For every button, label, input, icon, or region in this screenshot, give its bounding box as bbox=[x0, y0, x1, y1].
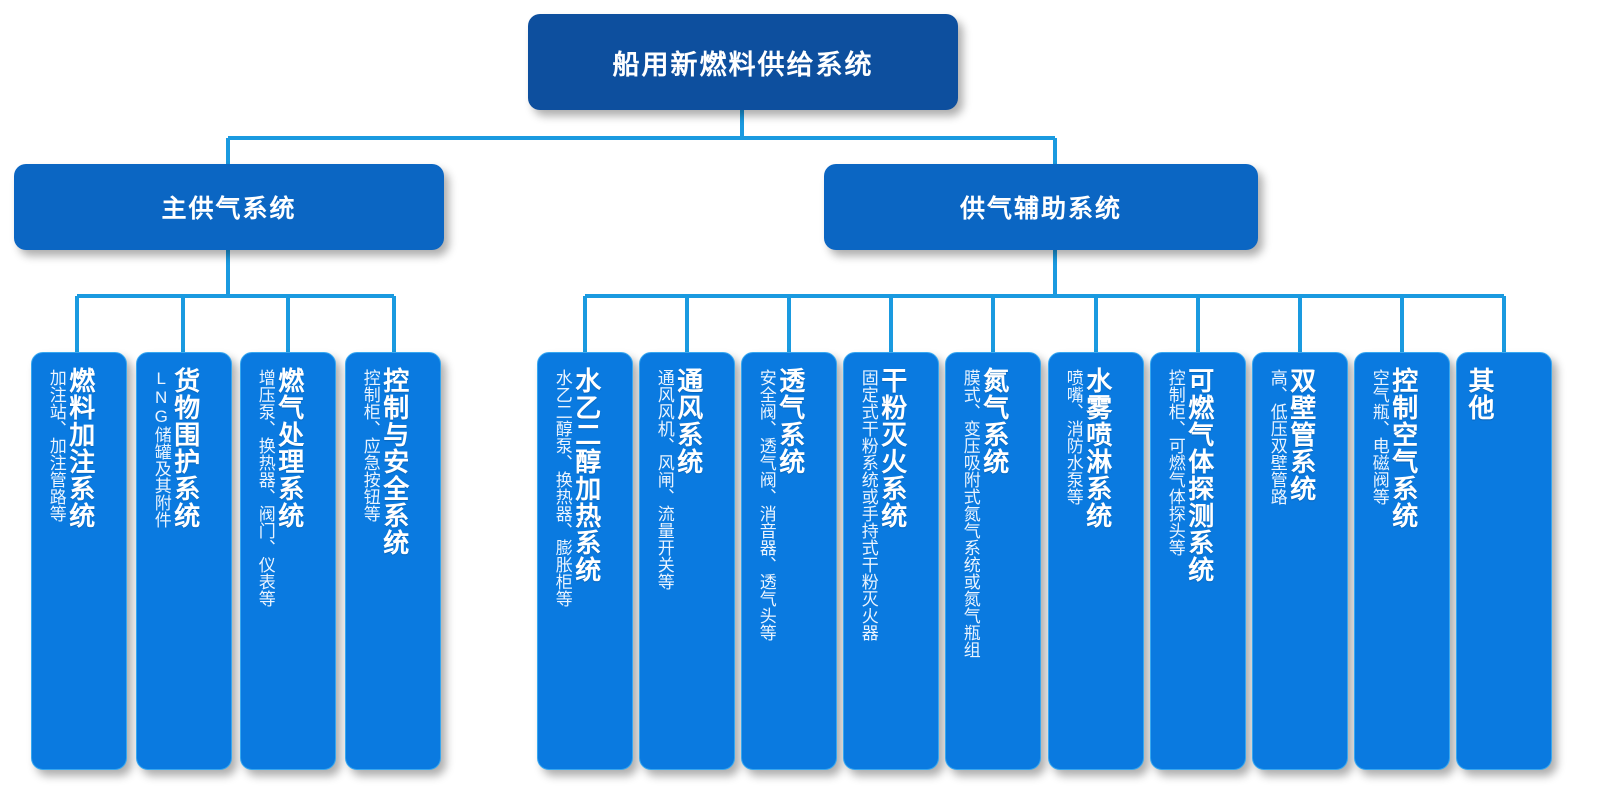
leaf-title: 干粉灭火系统 bbox=[879, 367, 906, 529]
leaf-text-column: 其他 bbox=[1457, 353, 1551, 769]
leaf-subtitle: 加注站、加注管路等 bbox=[46, 369, 65, 522]
leaf-subtitle: 增压泵、换热器、阀门、仪表等 bbox=[255, 369, 274, 607]
leaf-subtitle: 膜式、变压吸附式氮气系统或氮气瓶组 bbox=[960, 369, 979, 658]
leaf-title: 货物围护系统 bbox=[172, 367, 199, 529]
leaf-text-column: 货物围护系统 LNG储罐及其附件 bbox=[137, 353, 231, 769]
leaf-title: 可燃气体探测系统 bbox=[1186, 367, 1213, 583]
branch-node-label: 主供气系统 bbox=[161, 189, 296, 225]
leaf-title: 氮气系统 bbox=[981, 367, 1008, 475]
leaf-node[interactable]: 可燃气体探测系统 控制柜、可燃气体探头等 bbox=[1150, 352, 1246, 770]
leaf-node[interactable]: 通风系统 通风风机、风闸、流量开关等 bbox=[639, 352, 735, 770]
leaf-text-column: 透气系统 安全阀、透气阀、消音器、透气头等 bbox=[742, 353, 836, 769]
leaf-text-column: 可燃气体探测系统 控制柜、可燃气体探头等 bbox=[1151, 353, 1245, 769]
branch-node-auxiliary-gas-supply[interactable]: 供气辅助系统 bbox=[824, 164, 1258, 250]
leaf-text-column: 干粉灭火系统 固定式干粉系统或手持式干粉灭火器 bbox=[844, 353, 938, 769]
leaf-text-column: 氮气系统 膜式、变压吸附式氮气系统或氮气瓶组 bbox=[946, 353, 1040, 769]
leaf-text-column: 燃料加注系统 加注站、加注管路等 bbox=[32, 353, 126, 769]
leaf-node[interactable]: 其他 bbox=[1456, 352, 1552, 770]
leaf-node[interactable]: 干粉灭火系统 固定式干粉系统或手持式干粉灭火器 bbox=[843, 352, 939, 770]
leaf-text-column: 水雾喷淋系统 喷嘴、消防水泵等 bbox=[1049, 353, 1143, 769]
leaf-node[interactable]: 控制空气系统 空气瓶、电磁阀等 bbox=[1354, 352, 1450, 770]
leaf-title: 燃料加注系统 bbox=[67, 367, 94, 529]
leaf-title: 控制空气系统 bbox=[1390, 367, 1417, 529]
leaf-title: 控制与安全系统 bbox=[381, 367, 408, 556]
leaf-node[interactable]: 水雾喷淋系统 喷嘴、消防水泵等 bbox=[1048, 352, 1144, 770]
leaf-title: 燃气处理系统 bbox=[276, 367, 303, 529]
leaf-node[interactable]: 控制与安全系统 控制柜、应急按钮等 bbox=[345, 352, 441, 770]
leaf-title: 水乙二醇加热系统 bbox=[573, 367, 600, 583]
org-chart-canvas: 船用新燃料供给系统 主供气系统 供气辅助系统 燃料加注系统 加注站、加注管路等 … bbox=[0, 0, 1600, 798]
leaf-subtitle: 喷嘴、消防水泵等 bbox=[1063, 369, 1082, 505]
leaf-subtitle: 高、低压双壁管路 bbox=[1267, 369, 1286, 505]
branch-node-main-gas-supply[interactable]: 主供气系统 bbox=[14, 164, 444, 250]
leaf-title: 透气系统 bbox=[777, 367, 804, 475]
leaf-subtitle: 空气瓶、电磁阀等 bbox=[1369, 369, 1388, 505]
leaf-node[interactable]: 双壁管系统 高、低压双壁管路 bbox=[1252, 352, 1348, 770]
leaf-subtitle: 水乙二醇泵、换热器、膨胀柜等 bbox=[552, 369, 571, 607]
leaf-subtitle: LNG储罐及其附件 bbox=[151, 369, 170, 528]
root-node[interactable]: 船用新燃料供给系统 bbox=[528, 14, 958, 110]
leaf-node[interactable]: 货物围护系统 LNG储罐及其附件 bbox=[136, 352, 232, 770]
leaf-subtitle: 控制柜、可燃气体探头等 bbox=[1165, 369, 1184, 556]
leaf-node[interactable]: 燃气处理系统 增压泵、换热器、阀门、仪表等 bbox=[240, 352, 336, 770]
leaf-node[interactable]: 透气系统 安全阀、透气阀、消音器、透气头等 bbox=[741, 352, 837, 770]
leaf-subtitle: 安全阀、透气阀、消音器、透气头等 bbox=[756, 369, 775, 641]
leaf-title: 其他 bbox=[1466, 367, 1493, 421]
leaf-text-column: 通风系统 通风风机、风闸、流量开关等 bbox=[640, 353, 734, 769]
leaf-subtitle: 控制柜、应急按钮等 bbox=[360, 369, 379, 522]
leaf-title: 通风系统 bbox=[675, 367, 702, 475]
leaf-text-column: 控制空气系统 空气瓶、电磁阀等 bbox=[1355, 353, 1449, 769]
leaf-subtitle: 通风风机、风闸、流量开关等 bbox=[654, 369, 673, 590]
leaf-text-column: 双壁管系统 高、低压双壁管路 bbox=[1253, 353, 1347, 769]
leaf-node[interactable]: 水乙二醇加热系统 水乙二醇泵、换热器、膨胀柜等 bbox=[537, 352, 633, 770]
leaf-subtitle: 固定式干粉系统或手持式干粉灭火器 bbox=[858, 369, 877, 641]
leaf-text-column: 控制与安全系统 控制柜、应急按钮等 bbox=[346, 353, 440, 769]
leaf-title: 水雾喷淋系统 bbox=[1084, 367, 1111, 529]
leaf-title: 双壁管系统 bbox=[1288, 367, 1315, 502]
branch-node-label: 供气辅助系统 bbox=[960, 189, 1122, 225]
leaf-node[interactable]: 氮气系统 膜式、变压吸附式氮气系统或氮气瓶组 bbox=[945, 352, 1041, 770]
leaf-text-column: 水乙二醇加热系统 水乙二醇泵、换热器、膨胀柜等 bbox=[538, 353, 632, 769]
root-node-label: 船用新燃料供给系统 bbox=[613, 43, 874, 82]
leaf-node[interactable]: 燃料加注系统 加注站、加注管路等 bbox=[31, 352, 127, 770]
leaf-text-column: 燃气处理系统 增压泵、换热器、阀门、仪表等 bbox=[241, 353, 335, 769]
